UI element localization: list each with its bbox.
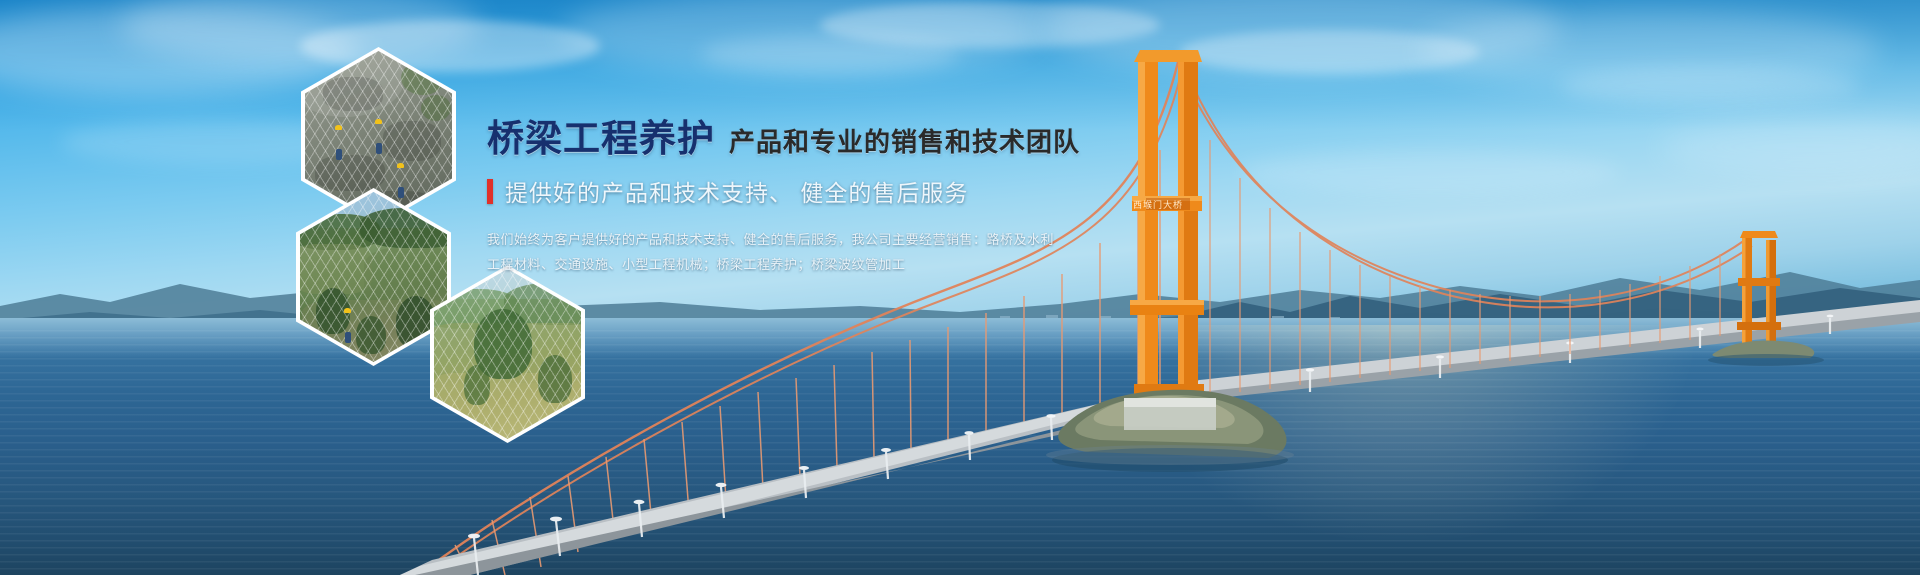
main-cable-right — [1178, 62, 1752, 307]
accent-bar — [487, 179, 493, 204]
bridge-tower-main: 西堠门大桥 — [1130, 50, 1204, 420]
body-line-1: 我们始终为客户提供好的产品和技术支持、健全的售后服务，我公司主要经营销售：路桥及… — [487, 227, 1007, 252]
hero-banner: 西堠门大桥 — [0, 0, 1920, 575]
banner-body-copy: 我们始终为客户提供好的产品和技术支持、健全的售后服务，我公司主要经营销售：路桥及… — [487, 227, 1007, 278]
subheadline-row: 提供好的产品和技术支持、 健全的售后服务 — [487, 174, 1007, 208]
tower-pier-island — [1046, 390, 1294, 472]
svg-text:西堠门大桥: 西堠门大桥 — [1133, 199, 1183, 210]
subheadline-text: 提供好的产品和技术支持、 健全的售后服务 — [505, 174, 968, 208]
headline-sub: 产品和专业的销售和技术团队 — [729, 127, 1080, 157]
suspension-bridge: 西堠门大桥 — [0, 0, 1920, 575]
headline-main: 桥梁工程养护 — [487, 118, 715, 159]
body-line-2: 工程材料、交通设施、小型工程机械；桥梁工程养护；桥梁波纹管加工 — [487, 252, 1007, 277]
banner-copy: 桥梁工程养护产品和专业的销售和技术团队 提供好的产品和技术支持、 健全的售后服务… — [487, 120, 1007, 278]
headline-row: 桥梁工程养护产品和专业的销售和技术团队 — [487, 120, 1007, 157]
bridge-tower-far — [1708, 231, 1824, 366]
